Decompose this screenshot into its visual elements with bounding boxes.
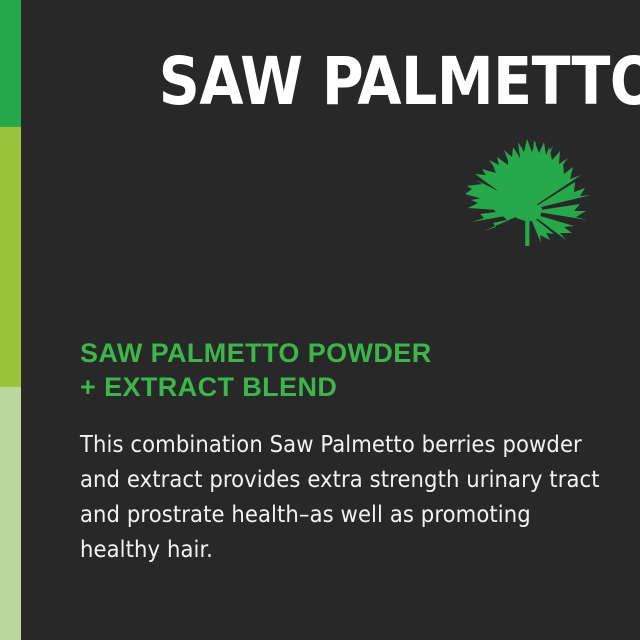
accent-color-bar <box>0 0 21 640</box>
product-subheading: SAW PALMETTO POWDER + EXTRACT BLEND <box>80 336 580 404</box>
accent-segment-dark-green <box>0 0 21 127</box>
product-description: This combination Saw Palmetto berries po… <box>80 427 590 567</box>
description-line: healthy hair. <box>80 532 590 567</box>
product-info-card: SAW PALMETTO <box>0 0 640 640</box>
palm-frond-icon <box>462 134 594 246</box>
accent-segment-pale-green <box>0 387 21 640</box>
subheading-line-1: SAW PALMETTO POWDER <box>80 336 580 370</box>
accent-segment-lime-green <box>0 127 21 387</box>
page-title: SAW PALMETTO <box>159 48 581 116</box>
description-line: and extract provides extra strength urin… <box>80 462 590 497</box>
description-line: and prostrate health–as well as promotin… <box>80 497 590 532</box>
description-line: This combination Saw Palmetto berries po… <box>80 427 590 462</box>
subheading-line-2: + EXTRACT BLEND <box>80 370 580 404</box>
